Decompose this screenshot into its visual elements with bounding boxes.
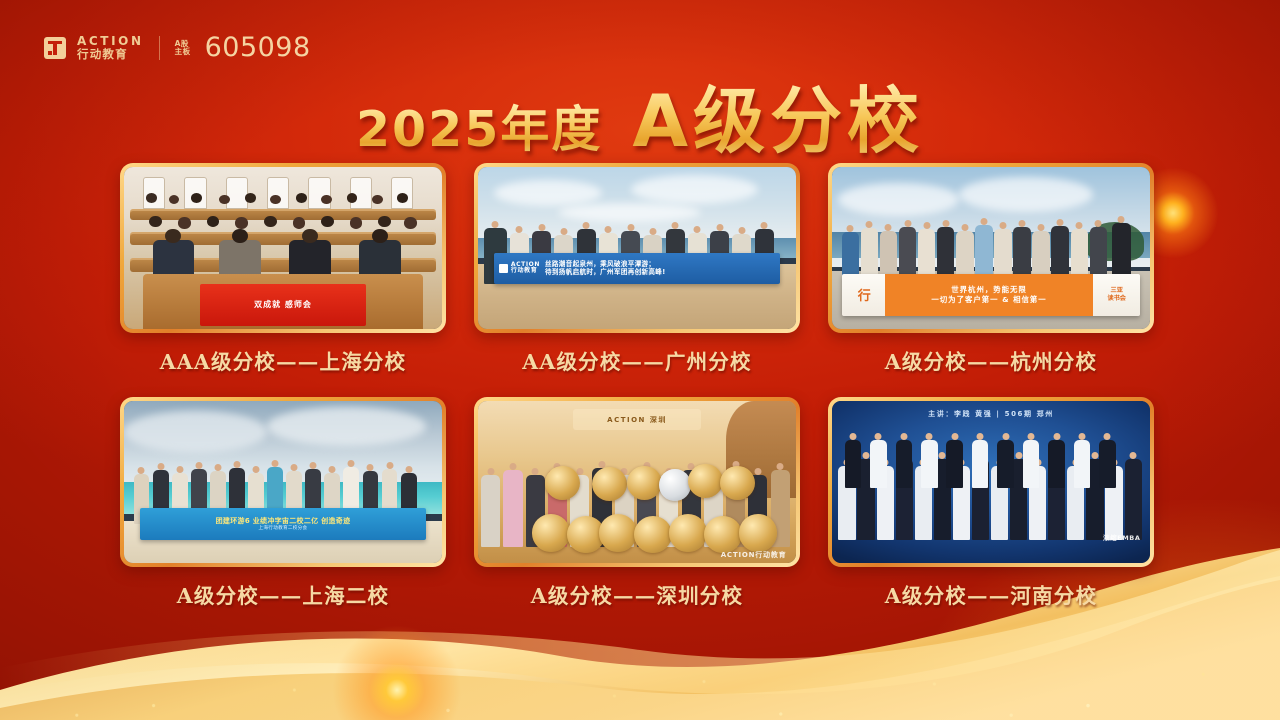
- school-card[interactable]: ACTION 深圳: [474, 397, 800, 609]
- card-caption: A级分校——杭州分校: [828, 345, 1154, 375]
- school-card[interactable]: ACTION 行动教育 丝路潮音起泉州，乘风破浪平潭游； 待到扬帆启航时，广州军…: [474, 163, 800, 375]
- photo-frame: 双成就 感师会: [120, 163, 446, 333]
- banner-logo-icon: 行: [844, 285, 886, 304]
- photo-banner: 团建环游6 业绩冲字宙二校二亿 创造奇迹 上海行动教育二校分会: [140, 508, 426, 540]
- title-main: A级分校: [632, 62, 924, 167]
- banner-text: 团建环游6 业绩冲字宙二校二亿 创造奇迹 上海行动教育二校分会: [140, 517, 426, 531]
- photo-frame: ACTION 深圳: [474, 397, 800, 567]
- brand-logo-bar: ACTION 行动教育 A股 主板 605098: [44, 32, 311, 63]
- photo-banner: ACTION 行动教育 丝路潮音起泉州，乘风破浪平潭游； 待到扬帆启航时，广州军…: [494, 253, 780, 284]
- card-caption: AA级分校——广州分校: [474, 345, 800, 375]
- photo-indoor-shenzhen: ACTION 深圳: [478, 401, 796, 563]
- photo-frame: 行 世界杭州，势能无限 一切为了客户第一 & 相信第一 三亚 读书会: [828, 163, 1154, 333]
- stock-code: 605098: [205, 32, 311, 63]
- school-card[interactable]: 主讲：李践 黄强 | 506期 郑州: [828, 397, 1154, 609]
- page-title: 2025年度 A级分校: [0, 62, 1280, 167]
- stock-label-line2: 主板: [175, 48, 191, 56]
- title-year: 2025年度: [356, 90, 602, 161]
- banner-side-text: 三亚 读书会: [1093, 287, 1141, 303]
- school-card[interactable]: 行 世界杭州，势能无限 一切为了客户第一 & 相信第一 三亚 读书会 A级分校—…: [828, 163, 1154, 375]
- photo-frame: ACTION 行动教育 丝路潮音起泉州，乘风破浪平潭游； 待到扬帆启航时，广州军…: [474, 163, 800, 333]
- photo-beach-shanghai-second: 团建环游6 业绩冲字宙二校二亿 创造奇迹 上海行动教育二校分会: [124, 401, 442, 563]
- banner-brand: ACTION 行动教育: [494, 262, 545, 275]
- banner-text: 丝路潮音起泉州，乘风破浪平潭游； 待到扬帆启航时，广州军团再创新高峰!: [545, 260, 780, 276]
- card-caption: A级分校——深圳分校: [474, 579, 800, 609]
- card-caption: A级分校——河南分校: [828, 579, 1154, 609]
- brand-name: ACTION 行动教育: [77, 35, 144, 61]
- stock-market-label: A股 主板: [175, 40, 191, 56]
- banner-text: 世界杭州，势能无限 一切为了客户第一 & 相信第一: [885, 274, 1093, 316]
- photo-banner: 行 世界杭州，势能无限 一切为了客户第一 & 相信第一 三亚 读书会: [842, 274, 1141, 316]
- photo-frame: 主讲：李践 黄强 | 506期 郑州: [828, 397, 1154, 567]
- card-caption: AAA级分校——上海分校: [120, 345, 446, 375]
- logo-divider: [159, 36, 160, 60]
- brand-name-en: ACTION: [77, 35, 144, 47]
- school-card[interactable]: 双成就 感师会 AAA级分校——上海分校: [120, 163, 446, 375]
- photo-beach-hangzhou: 行 世界杭州，势能无限 一切为了客户第一 & 相信第一 三亚 读书会: [832, 167, 1150, 329]
- photo-watermark: 浓缩EMBA: [1103, 532, 1141, 542]
- photo-lecture-hall: 双成就 感师会: [124, 167, 442, 329]
- school-card[interactable]: 团建环游6 业绩冲字宙二校二亿 创造奇迹 上海行动教育二校分会 A级分校——上海…: [120, 397, 446, 609]
- card-caption: A级分校——上海二校: [120, 579, 446, 609]
- photo-stage-henan: 主讲：李践 黄强 | 506期 郑州: [832, 401, 1150, 563]
- photo-beach-guangzhou: ACTION 行动教育 丝路潮音起泉州，乘风破浪平潭游； 待到扬帆启航时，广州军…: [478, 167, 796, 329]
- photo-banner-text: 双成就 感师会: [200, 284, 365, 326]
- school-card-grid: 双成就 感师会 AAA级分校——上海分校: [120, 163, 1160, 609]
- brand-name-cn: 行动教育: [77, 49, 144, 61]
- action-logo-icon: [44, 37, 66, 59]
- photo-frame: 团建环游6 业绩冲字宙二校二亿 创造奇迹 上海行动教育二校分会: [120, 397, 446, 567]
- photo-watermark: ACTION行动教育: [721, 550, 787, 560]
